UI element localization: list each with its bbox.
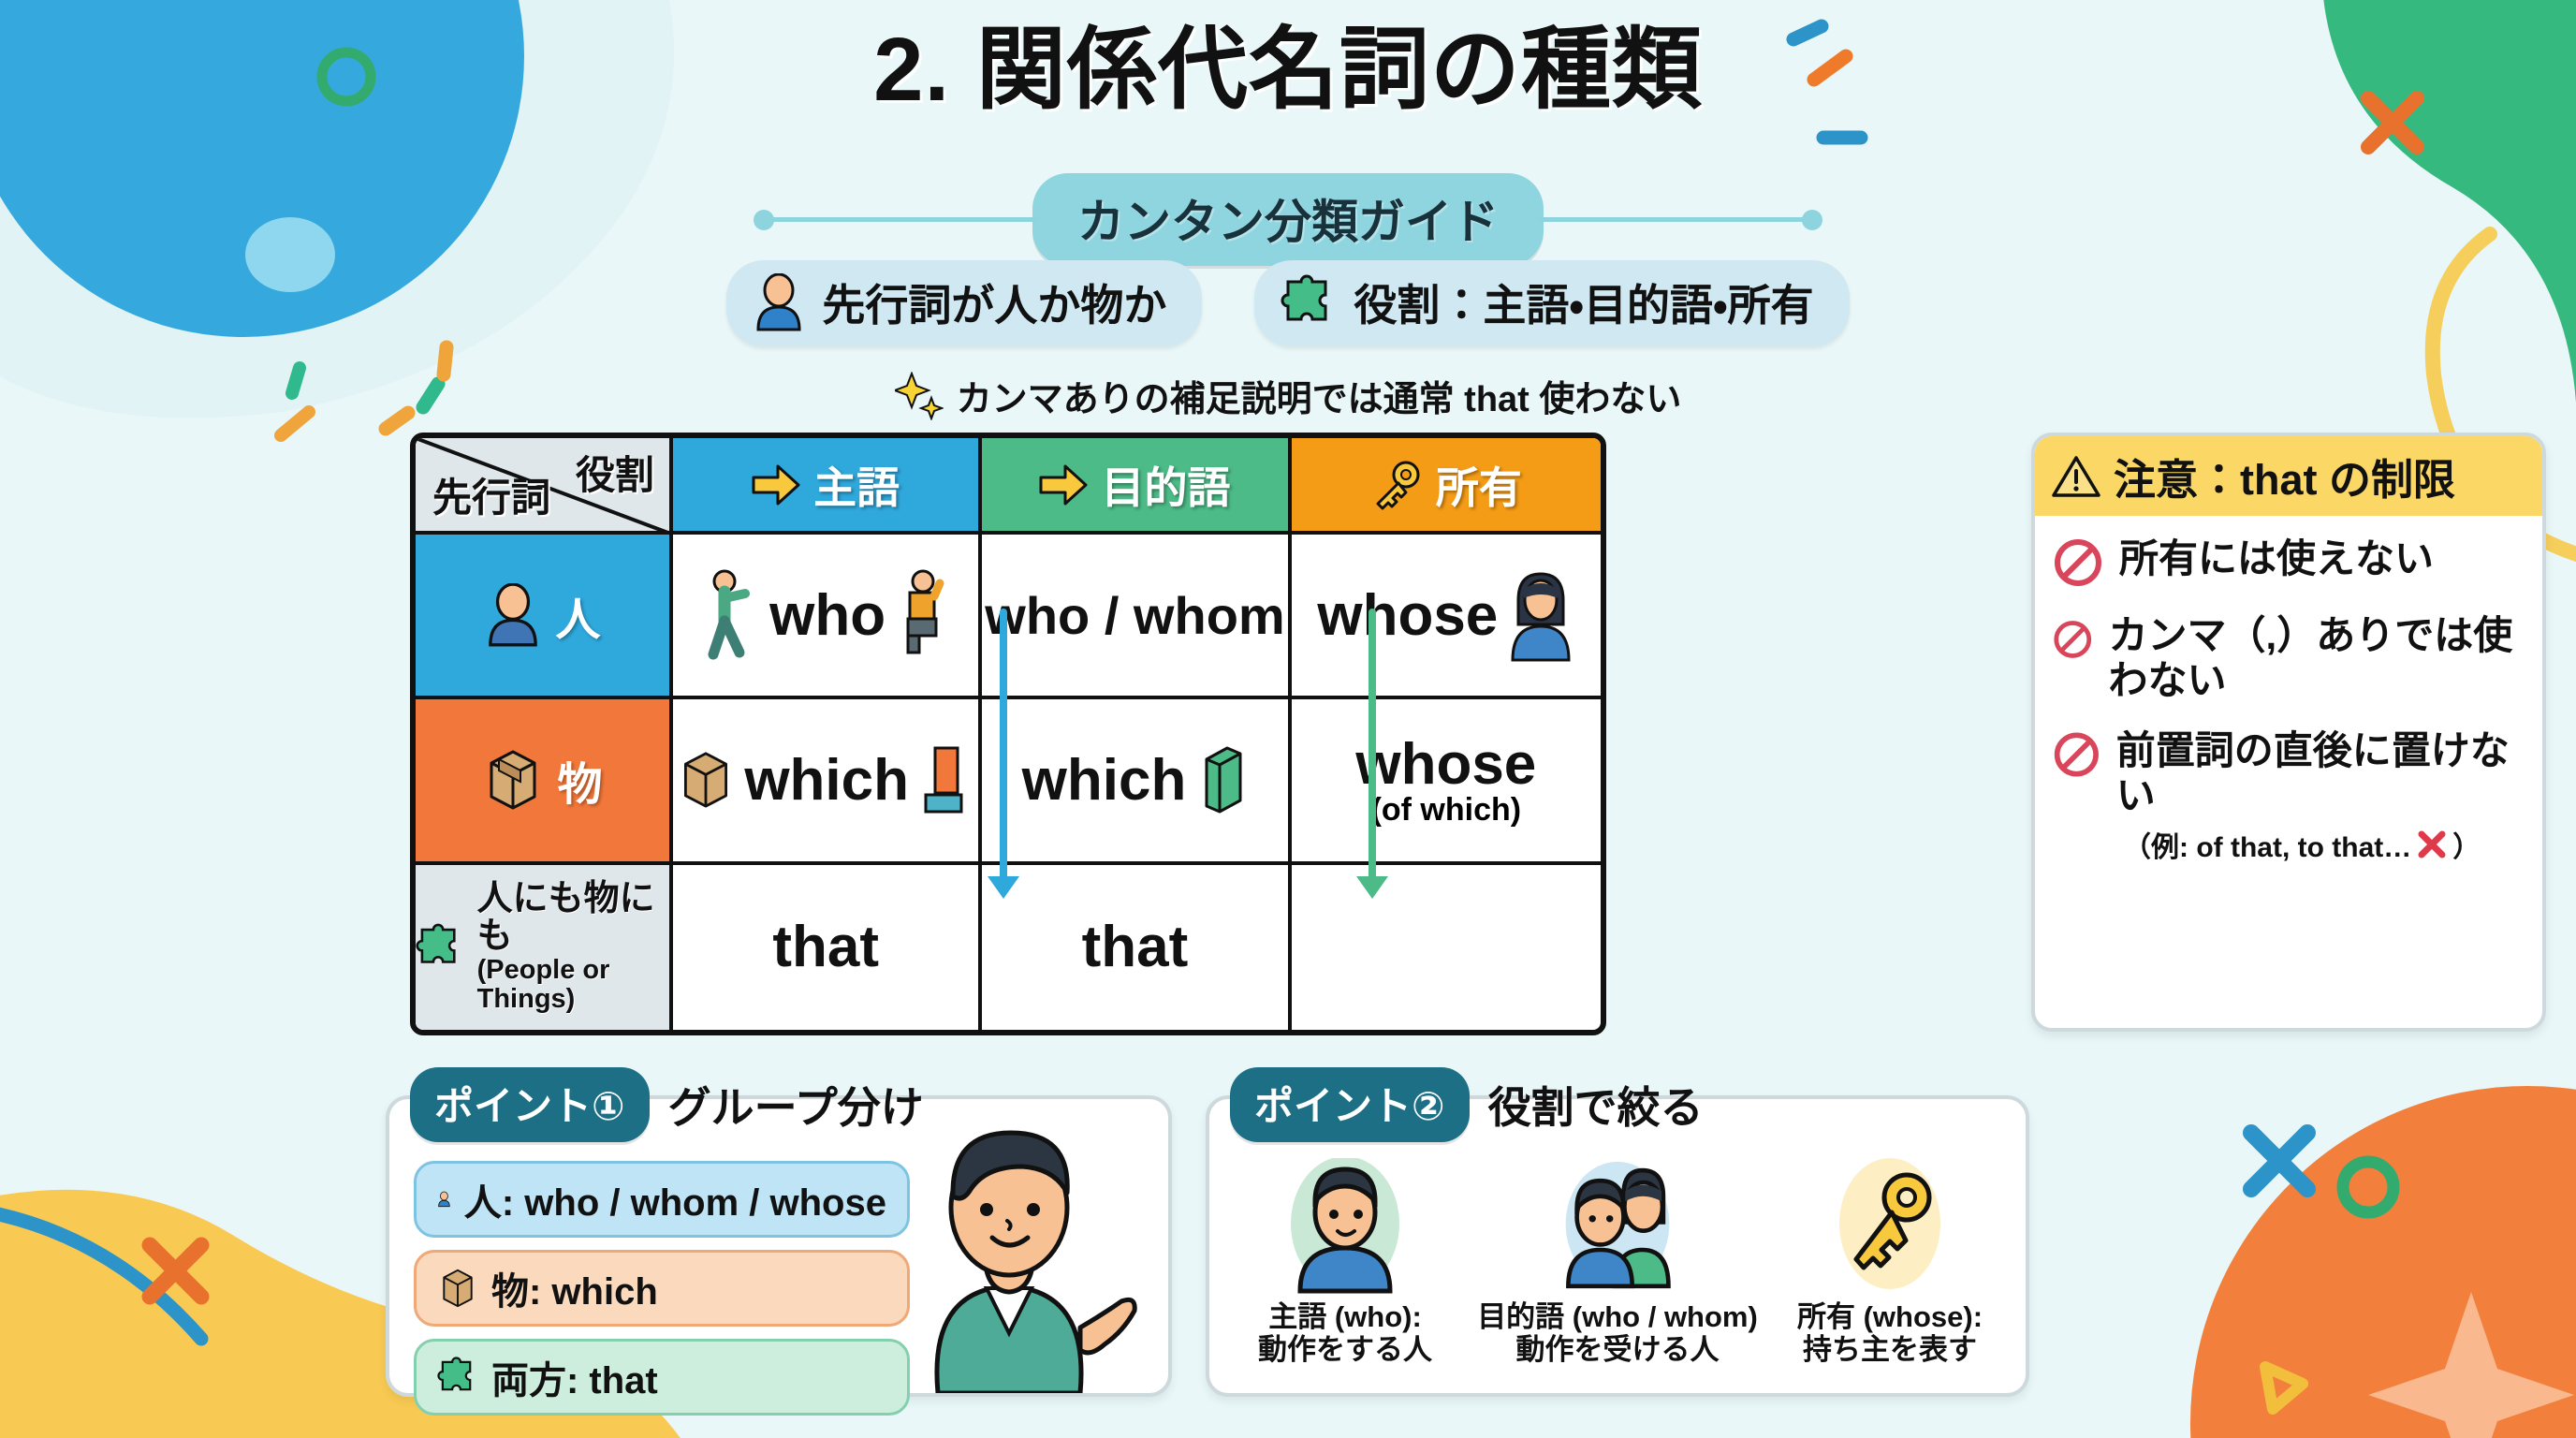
table-cell-thing-possessive-text: whose xyxy=(1355,735,1536,794)
table-header-possessive-label: 所有 xyxy=(1436,454,1522,516)
subtitle-row: カンタン分類ガイド xyxy=(0,173,2576,266)
point2-pill: ポイント② xyxy=(1230,1067,1470,1142)
table-rowhead-person-label: 人 xyxy=(555,582,600,648)
subtitle-rule-right xyxy=(1538,217,1819,222)
table-cell-thing-subject: which xyxy=(673,699,982,864)
table-cell-person-possessive-text: whose xyxy=(1317,582,1498,649)
table-cell-person-subject-text: who xyxy=(769,582,885,649)
box-icon xyxy=(482,746,544,814)
table-cell-thing-object: which xyxy=(982,699,1291,864)
table-cell-person-possessive: whose xyxy=(1292,535,1601,699)
table-corner-cell: 役割 先行詞 xyxy=(416,438,673,535)
warning-item-2-text: カンマ（,）ありでは使わない xyxy=(2109,613,2524,704)
two-people-avatar-icon xyxy=(1561,1158,1674,1297)
point1-row-person[interactable]: 人: who / whom / whose xyxy=(414,1161,910,1238)
table-header-subject: 主語 xyxy=(673,438,982,535)
table-rowhead-person: 人 xyxy=(416,535,673,699)
table-cell-both-subject: that xyxy=(673,865,982,1030)
puzzle-icon xyxy=(1281,274,1337,330)
woman-avatar-icon xyxy=(1507,568,1574,662)
point2-col-subject-line1: 主語 (who): xyxy=(1258,1301,1432,1334)
warning-card-header: 注意：that の制限 xyxy=(2035,436,2542,516)
subtitle-rule-left xyxy=(757,217,1038,222)
point1-pill: ポイント① xyxy=(410,1067,650,1142)
point1-card: ポイント① グループ分け 人: who / whom / whose 物: wh… xyxy=(386,1095,1172,1397)
chip-role-label: 役割：主語・目的語・所有 xyxy=(1354,271,1813,333)
point1-header: ポイント① グループ分け xyxy=(410,1067,924,1142)
orange-object-icon xyxy=(918,742,974,817)
table-cell-both-possessive xyxy=(1292,865,1601,1030)
table-cell-person-object-text: who / whom xyxy=(985,585,1284,646)
table-cell-both-object-text: that xyxy=(1082,914,1189,980)
point1-row-both-label: 両方: that xyxy=(491,1350,658,1404)
point2-header: ポイント② 役割で絞る xyxy=(1230,1067,1704,1142)
point2-col-object-line1: 目的語 (who / whom) xyxy=(1477,1301,1758,1334)
point1-group-list: 人: who / whom / whose 物: which 両方: that xyxy=(414,1161,910,1428)
chip-antecedent[interactable]: 先行詞が人か物か xyxy=(726,260,1202,346)
puzzle-icon xyxy=(437,1357,478,1398)
cross-mark-icon xyxy=(2415,828,2449,861)
relative-pronoun-table: 役割 先行詞 主語 目的語 所有 xyxy=(410,433,1606,1035)
key-icon xyxy=(1370,459,1423,511)
walking-person-icon xyxy=(698,568,760,662)
table-rowhead-both-label: 人にも物にも xyxy=(477,881,669,956)
green-cube-icon xyxy=(1195,742,1248,817)
point2-title: 役割で絞る xyxy=(1488,1074,1704,1136)
arrow-right-icon xyxy=(1039,464,1088,506)
warning-card-body: 所有には使えない カンマ（,）ありでは使わない 前置詞の直後に置けない （例: … xyxy=(2035,516,2542,874)
comma-note-text: カンマありの補足説明では通常 that 使わない xyxy=(957,370,1682,421)
corner-role-label: 役割 xyxy=(576,444,654,501)
point1-row-thing-label: 物: which xyxy=(491,1261,658,1315)
puzzle-icon xyxy=(416,917,464,977)
person-icon xyxy=(437,1179,451,1220)
sparkle-icon xyxy=(895,372,944,420)
teacher-avatar-icon xyxy=(872,1112,1144,1393)
point2-col-object-line2: 動作を受ける人 xyxy=(1477,1334,1758,1367)
point1-row-thing[interactable]: 物: which xyxy=(414,1250,910,1327)
warning-item-3: 前置詞の直後に置けない xyxy=(2052,728,2524,819)
prohibited-icon xyxy=(2052,536,2104,589)
warning-example-text: （例: of that, to that… xyxy=(2123,824,2411,865)
arrow-right-icon xyxy=(752,464,800,506)
warning-card: 注意：that の制限 所有には使えない カンマ（,）ありでは使わない xyxy=(2031,433,2546,1032)
point1-row-both[interactable]: 両方: that xyxy=(414,1339,910,1416)
table-cell-thing-possessive: whose (of which) xyxy=(1292,699,1601,864)
warning-example-end: ） xyxy=(2452,824,2481,865)
point2-col-subject-line2: 動作をする人 xyxy=(1258,1334,1432,1367)
prohibited-icon xyxy=(2052,728,2101,781)
point2-col-subject[interactable]: 主語 (who): 動作をする人 xyxy=(1209,1157,1481,1366)
point2-col-possessive[interactable]: 所有 (whose): 持ち主を表す xyxy=(1754,1157,2026,1366)
table-rowhead-both: 人にも物にも (People or Things) xyxy=(416,865,673,1030)
warning-item-2: カンマ（,）ありでは使わない xyxy=(2052,613,2524,704)
table-cell-both-subject-text: that xyxy=(772,914,879,980)
point2-card: ポイント② 役割で絞る 主語 (who): xyxy=(1206,1095,2029,1397)
person-icon xyxy=(484,583,542,647)
prohibited-icon xyxy=(2052,613,2094,666)
chip-antecedent-label: 先行詞が人か物か xyxy=(822,271,1166,333)
warning-item-3-text: 前置詞の直後に置けない xyxy=(2116,728,2524,819)
single-person-avatar-icon xyxy=(1289,1158,1401,1297)
table-header-possessive: 所有 xyxy=(1292,438,1601,535)
point2-col-possessive-line1: 所有 (whose): xyxy=(1797,1301,1983,1334)
box-icon xyxy=(437,1267,478,1310)
table-cell-person-subject: who xyxy=(673,535,982,699)
criteria-chips: 先行詞が人か物か 役割：主語・目的語・所有 xyxy=(0,260,2576,346)
warning-example: （例: of that, to that… ） xyxy=(2123,824,2524,865)
kneeling-person-icon xyxy=(895,568,953,662)
table-cell-thing-possessive-note: (of which) xyxy=(1371,794,1522,827)
table-rowhead-thing: 物 xyxy=(416,699,673,864)
comma-note: カンマありの補足説明では通常 that 使わない xyxy=(0,370,2576,421)
table-cell-thing-object-text: which xyxy=(1022,747,1187,814)
table-header-subject-label: 主語 xyxy=(813,454,900,516)
corner-antecedent-label: 先行詞 xyxy=(432,466,550,523)
table-rowhead-both-sublabel: (People or Things) xyxy=(477,956,669,1013)
person-icon xyxy=(753,273,805,331)
warning-item-1-text: 所有には使えない xyxy=(2119,536,2434,581)
point2-role-columns: 主語 (who): 動作をする人 xyxy=(1209,1157,2026,1366)
table-header-object: 目的語 xyxy=(982,438,1291,535)
warning-triangle-icon xyxy=(2052,454,2100,499)
table-cell-both-object: that xyxy=(982,865,1291,1030)
point2-col-possessive-line2: 持ち主を表す xyxy=(1797,1334,1983,1367)
key-icon xyxy=(1834,1158,1946,1297)
warning-item-1: 所有には使えない xyxy=(2052,536,2524,589)
warning-card-title: 注意：that の制限 xyxy=(2114,446,2455,506)
page-title: 2. 関係代名詞の種類 xyxy=(0,21,2576,120)
point1-row-person-label: 人: who / whom / whose xyxy=(464,1172,886,1226)
table-cell-thing-subject-text: which xyxy=(744,747,909,814)
box-icon xyxy=(677,747,735,813)
table-rowhead-thing-label: 物 xyxy=(557,747,602,813)
chip-role[interactable]: 役割：主語・目的語・所有 xyxy=(1254,260,1849,346)
table-cell-person-object: who / whom xyxy=(982,535,1291,699)
subtitle-badge: カンタン分類ガイド xyxy=(1032,173,1544,266)
point2-col-object[interactable]: 目的語 (who / whom) 動作を受ける人 xyxy=(1481,1157,1754,1366)
table-header-object-label: 目的語 xyxy=(1101,454,1230,516)
